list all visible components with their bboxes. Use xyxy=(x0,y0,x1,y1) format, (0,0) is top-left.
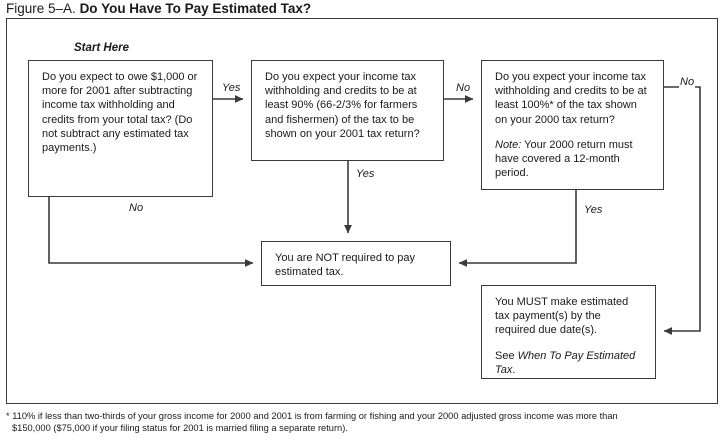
node-not-required: You are NOT required to pay estimated ta… xyxy=(261,241,451,286)
see-prefix: See xyxy=(495,350,518,362)
footnote-line-2: $150,000 ($75,000 if your filing status … xyxy=(6,422,718,434)
figure-title: Figure 5–A. Do You Have To Pay Estimated… xyxy=(6,0,706,18)
edge-label-q1-yes: Yes xyxy=(221,82,241,94)
node-q3-note-label: Note: xyxy=(495,139,521,151)
node-question-3: Do you expect your income tax withholdin… xyxy=(481,60,664,190)
node-question-1: Do you expect to owe $1,000 or more for … xyxy=(28,60,213,197)
footnote: * 110% if less than two-thirds of your g… xyxy=(6,410,718,435)
node-must-pay: You MUST make estimated tax payment(s) b… xyxy=(481,285,656,379)
node-q1-text: Do you expect to owe $1,000 or more for … xyxy=(42,70,201,155)
node-q3-note: Note: Your 2000 return must have covered… xyxy=(495,138,652,181)
node-must-pay-reference: See When To Pay Estimated Tax. xyxy=(495,349,644,377)
edge-label-q3-yes: Yes xyxy=(583,204,603,216)
node-not-required-text: You are NOT required to pay estimated ta… xyxy=(275,251,439,279)
edge-label-q2-yes: Yes xyxy=(355,168,375,180)
figure-number: Figure 5–A. xyxy=(6,1,76,16)
node-q2-text: Do you expect your income tax withholdin… xyxy=(265,70,432,141)
see-suffix: . xyxy=(512,364,515,376)
node-q3-text: Do you expect your income tax withholdin… xyxy=(495,70,652,127)
footnote-line-1: * 110% if less than two-thirds of your g… xyxy=(6,410,718,422)
edge-label-q2-no: No xyxy=(455,82,471,94)
node-must-pay-text: You MUST make estimated tax payment(s) b… xyxy=(495,295,644,338)
node-question-2: Do you expect your income tax withholdin… xyxy=(251,60,444,161)
edge-label-q3-no: No xyxy=(679,76,695,88)
start-here-label: Start Here xyxy=(74,42,129,54)
figure-heading: Do You Have To Pay Estimated Tax? xyxy=(80,1,312,16)
edge-label-q1-no: No xyxy=(128,202,144,214)
